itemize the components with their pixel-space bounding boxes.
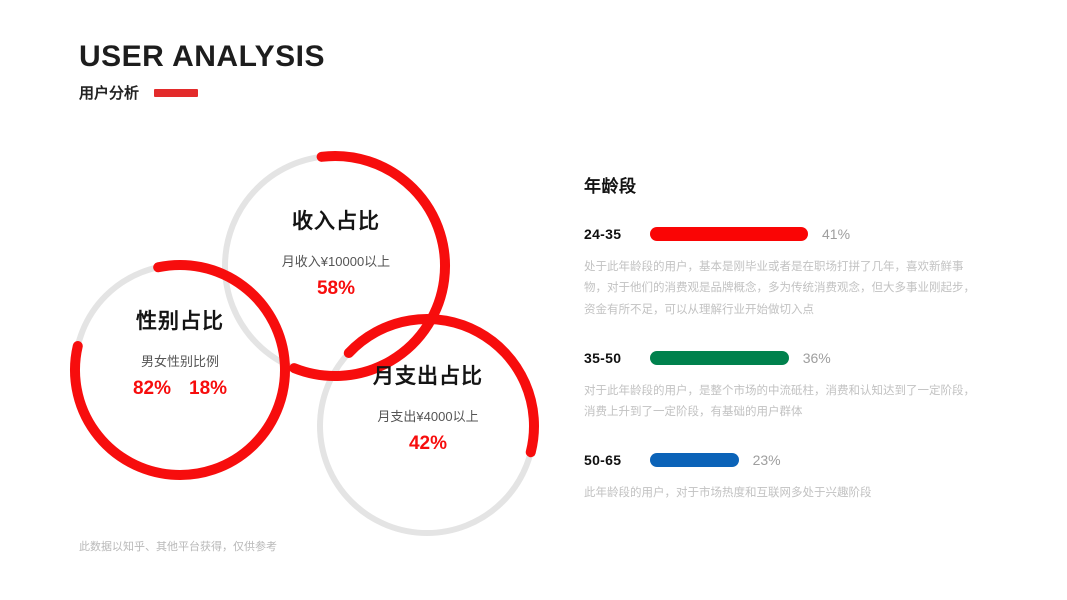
age-bar <box>650 453 739 467</box>
panel-title: 年龄段 <box>584 172 994 197</box>
age-bar-wrapper <box>650 351 789 365</box>
ring-arc-income <box>294 156 445 376</box>
age-bar <box>650 227 808 241</box>
age-segment-50-65: 50-65 23% 此年龄段的用户，对于市场热度和互联网多处于兴趣阶段 <box>584 450 994 504</box>
ring-chart-svg <box>0 0 600 600</box>
age-range-label: 35-50 <box>584 350 650 366</box>
ring-chart-group: 性别占比 男女性别比例 82%18% 收入占比 月收入¥10000以上 58% … <box>0 0 600 600</box>
age-range-label: 24-35 <box>584 226 650 242</box>
age-range-label: 50-65 <box>584 452 650 468</box>
age-segment-row: 35-50 36% <box>584 348 994 368</box>
footnote-text: 此数据以知乎、其他平台获得，仅供参考 <box>79 538 277 554</box>
age-segment-row: 50-65 23% <box>584 450 994 470</box>
age-bar <box>650 351 789 365</box>
age-description: 处于此年龄段的用户，基本是刚毕业或者是在职场打拼了几年，喜欢新鲜事物，对于他们的… <box>584 257 984 321</box>
age-bar-wrapper <box>650 453 739 467</box>
slide-canvas: USER ANALYSIS 用户分析 性别占比 男女性别比例 82%18% <box>0 0 1067 600</box>
age-percent-label: 23% <box>753 452 781 468</box>
age-segment-24-35: 24-35 41% 处于此年龄段的用户，基本是刚毕业或者是在职场打拼了几年，喜欢… <box>584 224 994 321</box>
age-percent-label: 41% <box>822 226 850 242</box>
age-description: 对于此年龄段的用户，是整个市场的中流砥柱，消费和认知达到了一定阶段，消费上升到了… <box>584 381 984 424</box>
age-segment-35-50: 35-50 36% 对于此年龄段的用户，是整个市场的中流砥柱，消费和认知达到了一… <box>584 348 994 424</box>
age-bar-wrapper <box>650 227 808 241</box>
ring-arc-expense <box>349 319 534 452</box>
age-percent-label: 36% <box>803 350 831 366</box>
age-segment-panel: 年龄段 24-35 41% 处于此年龄段的用户，基本是刚毕业或者是在职场打拼了几… <box>584 172 994 505</box>
age-description: 此年龄段的用户，对于市场热度和互联网多处于兴趣阶段 <box>584 483 984 504</box>
age-segment-row: 24-35 41% <box>584 224 994 244</box>
